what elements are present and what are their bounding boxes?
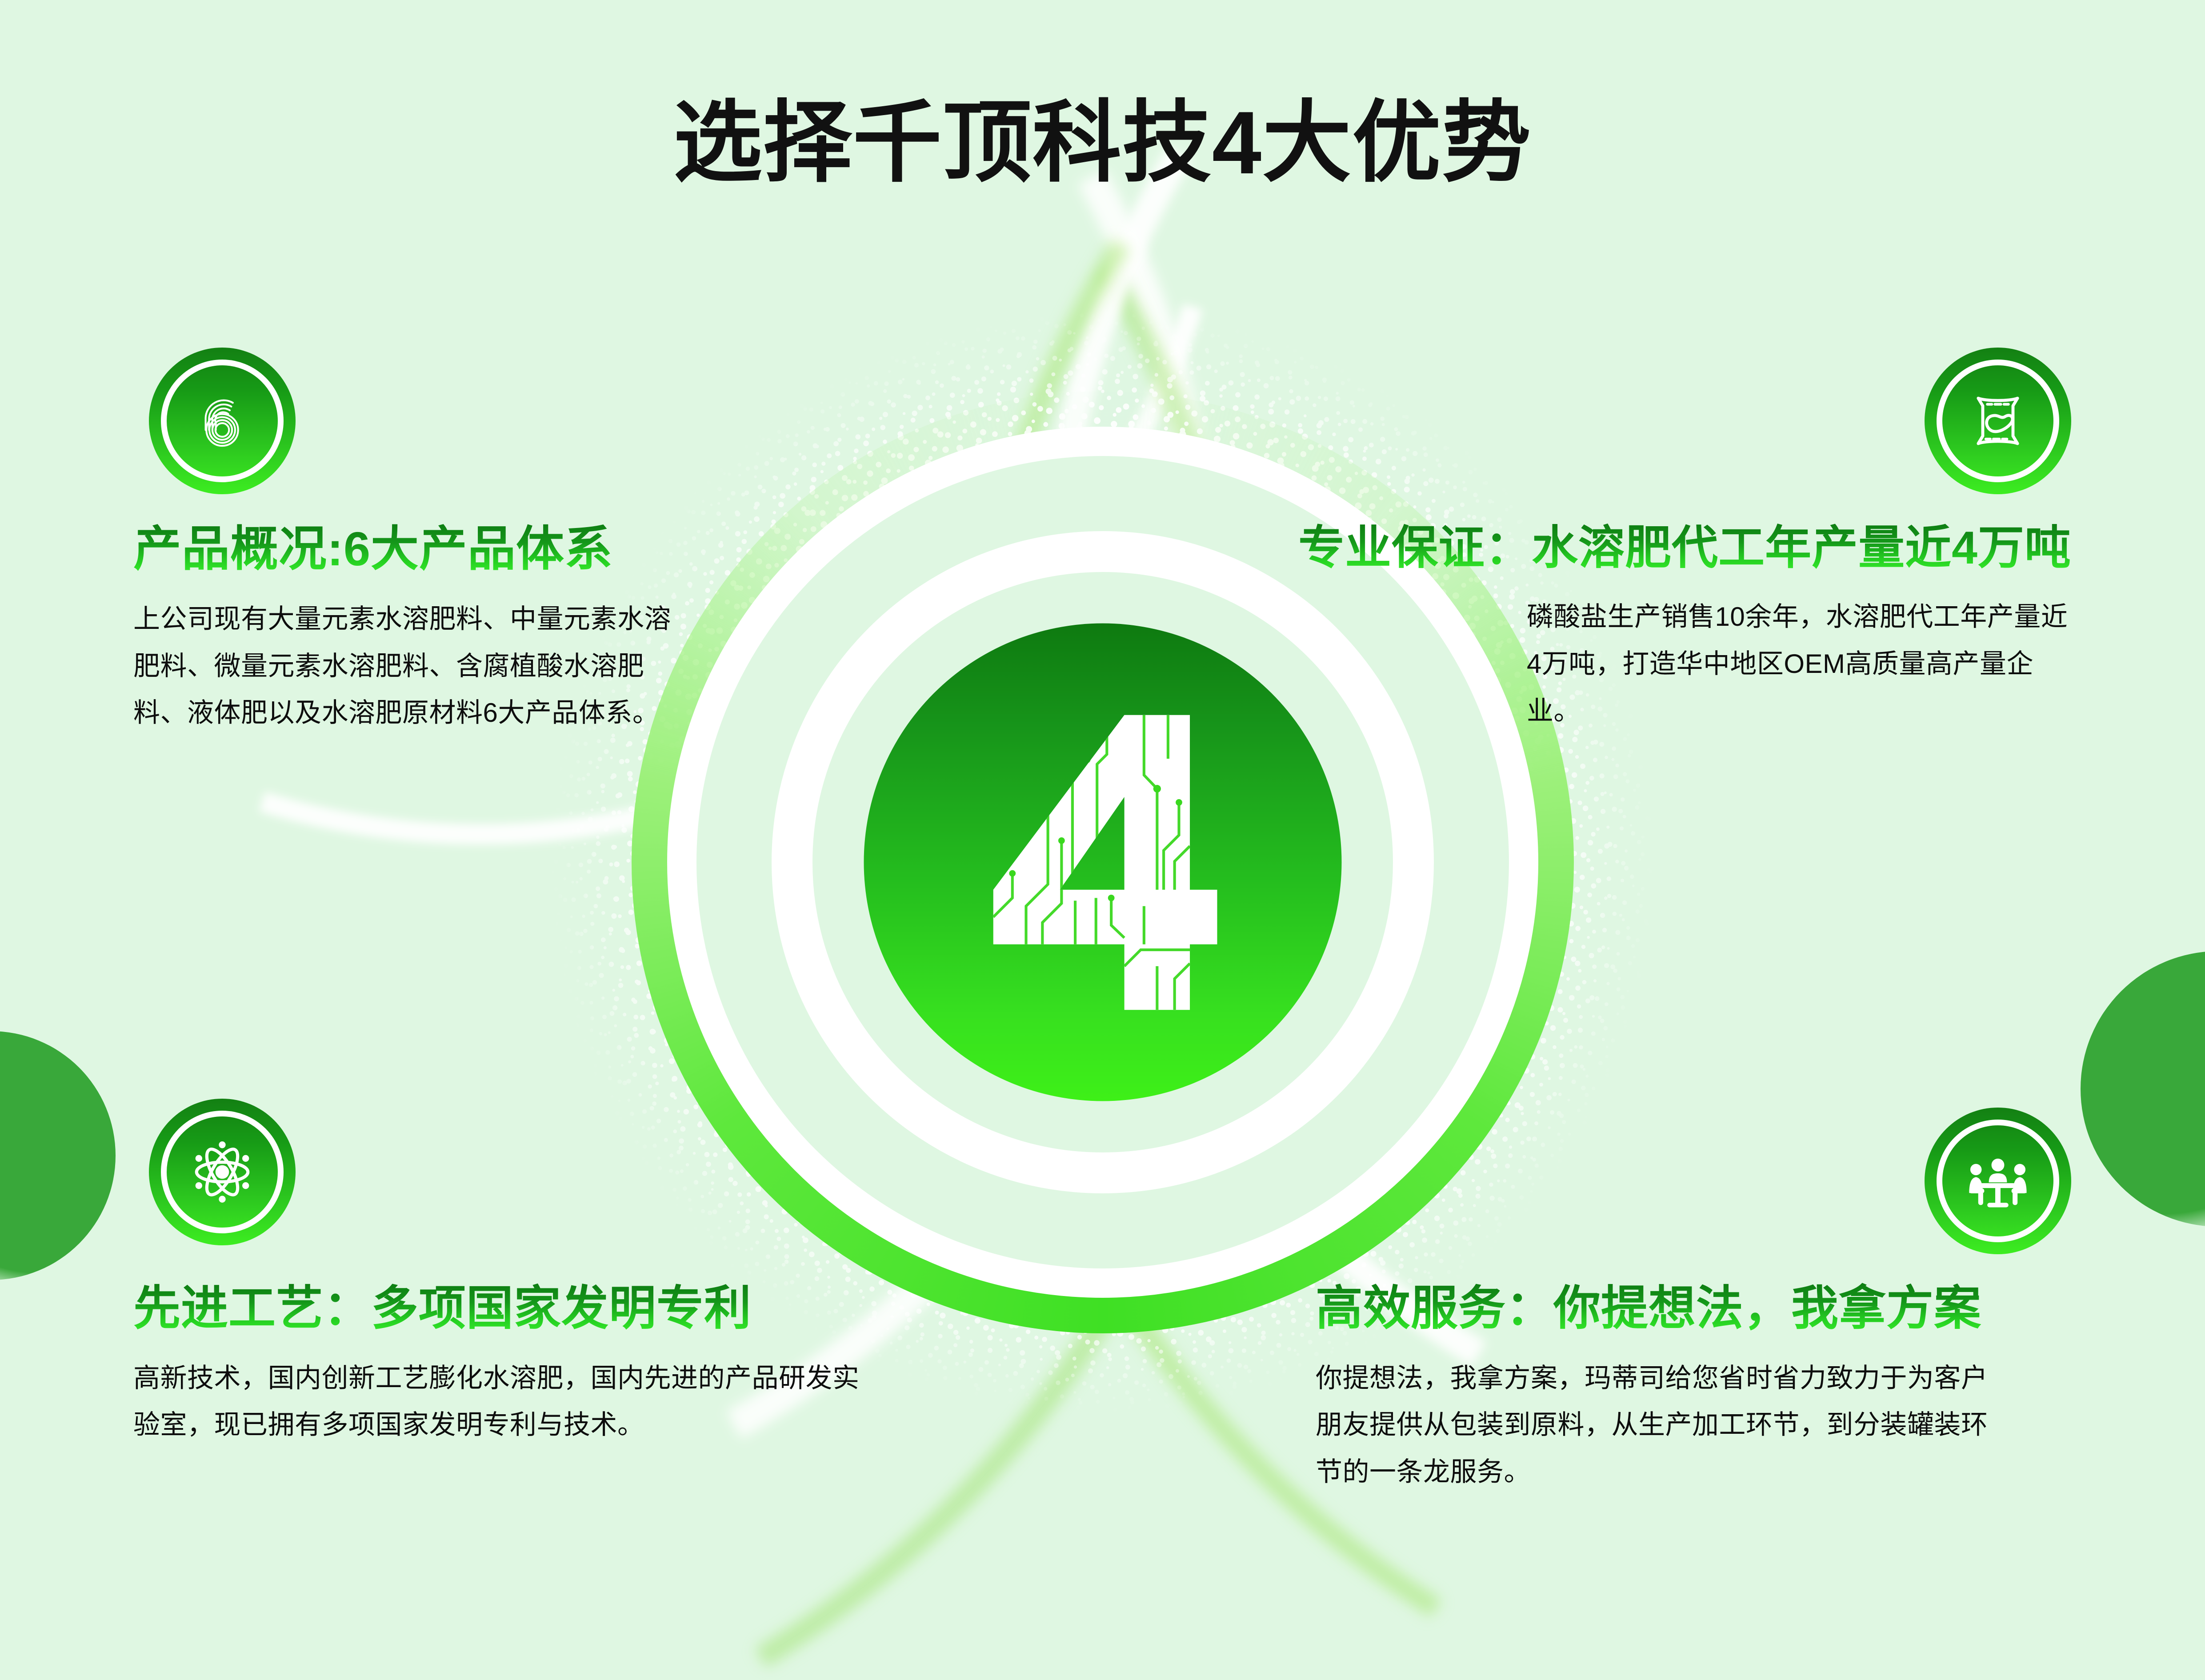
feature-heading: 专业保证：水溶肥代工年产量近4万吨 [1200, 522, 2071, 574]
number-six-circle-icon [184, 383, 260, 459]
atom-icon [184, 1134, 260, 1210]
badge-inner-ring [1937, 360, 2059, 482]
advantages-poster: 选择千顶科技4大优势 [0, 0, 2205, 1680]
feature-heading: 高效服务：你提想法，我拿方案 [1316, 1282, 2071, 1335]
feature-icon-badge-top-right [1925, 348, 2071, 494]
meeting-people-icon [1960, 1143, 2036, 1219]
feature-block-top-left: 产品概况:6大产品体系 上公司现有大量元素水溶肥料、中量元素水溶肥料、微量元素水… [133, 522, 791, 736]
feature-icon-badge-bottom-right [1925, 1108, 2071, 1254]
green-blob-right [2081, 951, 2205, 1227]
feature-icon-badge-top-left [149, 348, 296, 494]
feature-body: 上公司现有大量元素水溶肥料、中量元素水溶肥料、微量元素水溶肥料、含腐植酸水溶肥料… [133, 596, 680, 736]
feature-block-bottom-right: 高效服务：你提想法，我拿方案 你提想法，我拿方案，玛蒂司给您省时省力致力于为客户… [1316, 1282, 2071, 1496]
feature-heading: 产品概况:6大产品体系 [133, 522, 791, 576]
feature-heading: 先进工艺：多项国家发明专利 [133, 1282, 884, 1335]
badge-inner-ring [161, 360, 284, 482]
badge-inner-ring [1937, 1120, 2059, 1242]
feature-block-top-right: 专业保证：水溶肥代工年产量近4万吨 磷酸盐生产销售10余年，水溶肥代工年产量近4… [1200, 522, 2071, 734]
circuit-number-four-icon [950, 709, 1256, 1015]
fertilizer-bag-icon [1960, 383, 2036, 459]
feature-body: 你提想法，我拿方案，玛蒂司给您省时省力致力于为客户朋友提供从包装到原料，从生产加… [1316, 1355, 2009, 1496]
page-title: 选择千顶科技4大优势 [0, 94, 2205, 192]
green-blob-left [0, 1031, 116, 1280]
badge-inner-ring [161, 1111, 284, 1233]
feature-body: 磷酸盐生产销售10余年，水溶肥代工年产量近4万吨，打造华中地区OEM高质量高产量… [1527, 593, 2071, 734]
feature-icon-badge-bottom-left [149, 1099, 296, 1245]
feature-body: 高新技术，国内创新工艺膨化水溶肥，国内先进的产品研发实验室，现已拥有多项国家发明… [133, 1355, 880, 1448]
feature-block-bottom-left: 先进工艺：多项国家发明专利 高新技术，国内创新工艺膨化水溶肥，国内先进的产品研发… [133, 1282, 884, 1448]
center-graphic [547, 307, 1658, 1418]
